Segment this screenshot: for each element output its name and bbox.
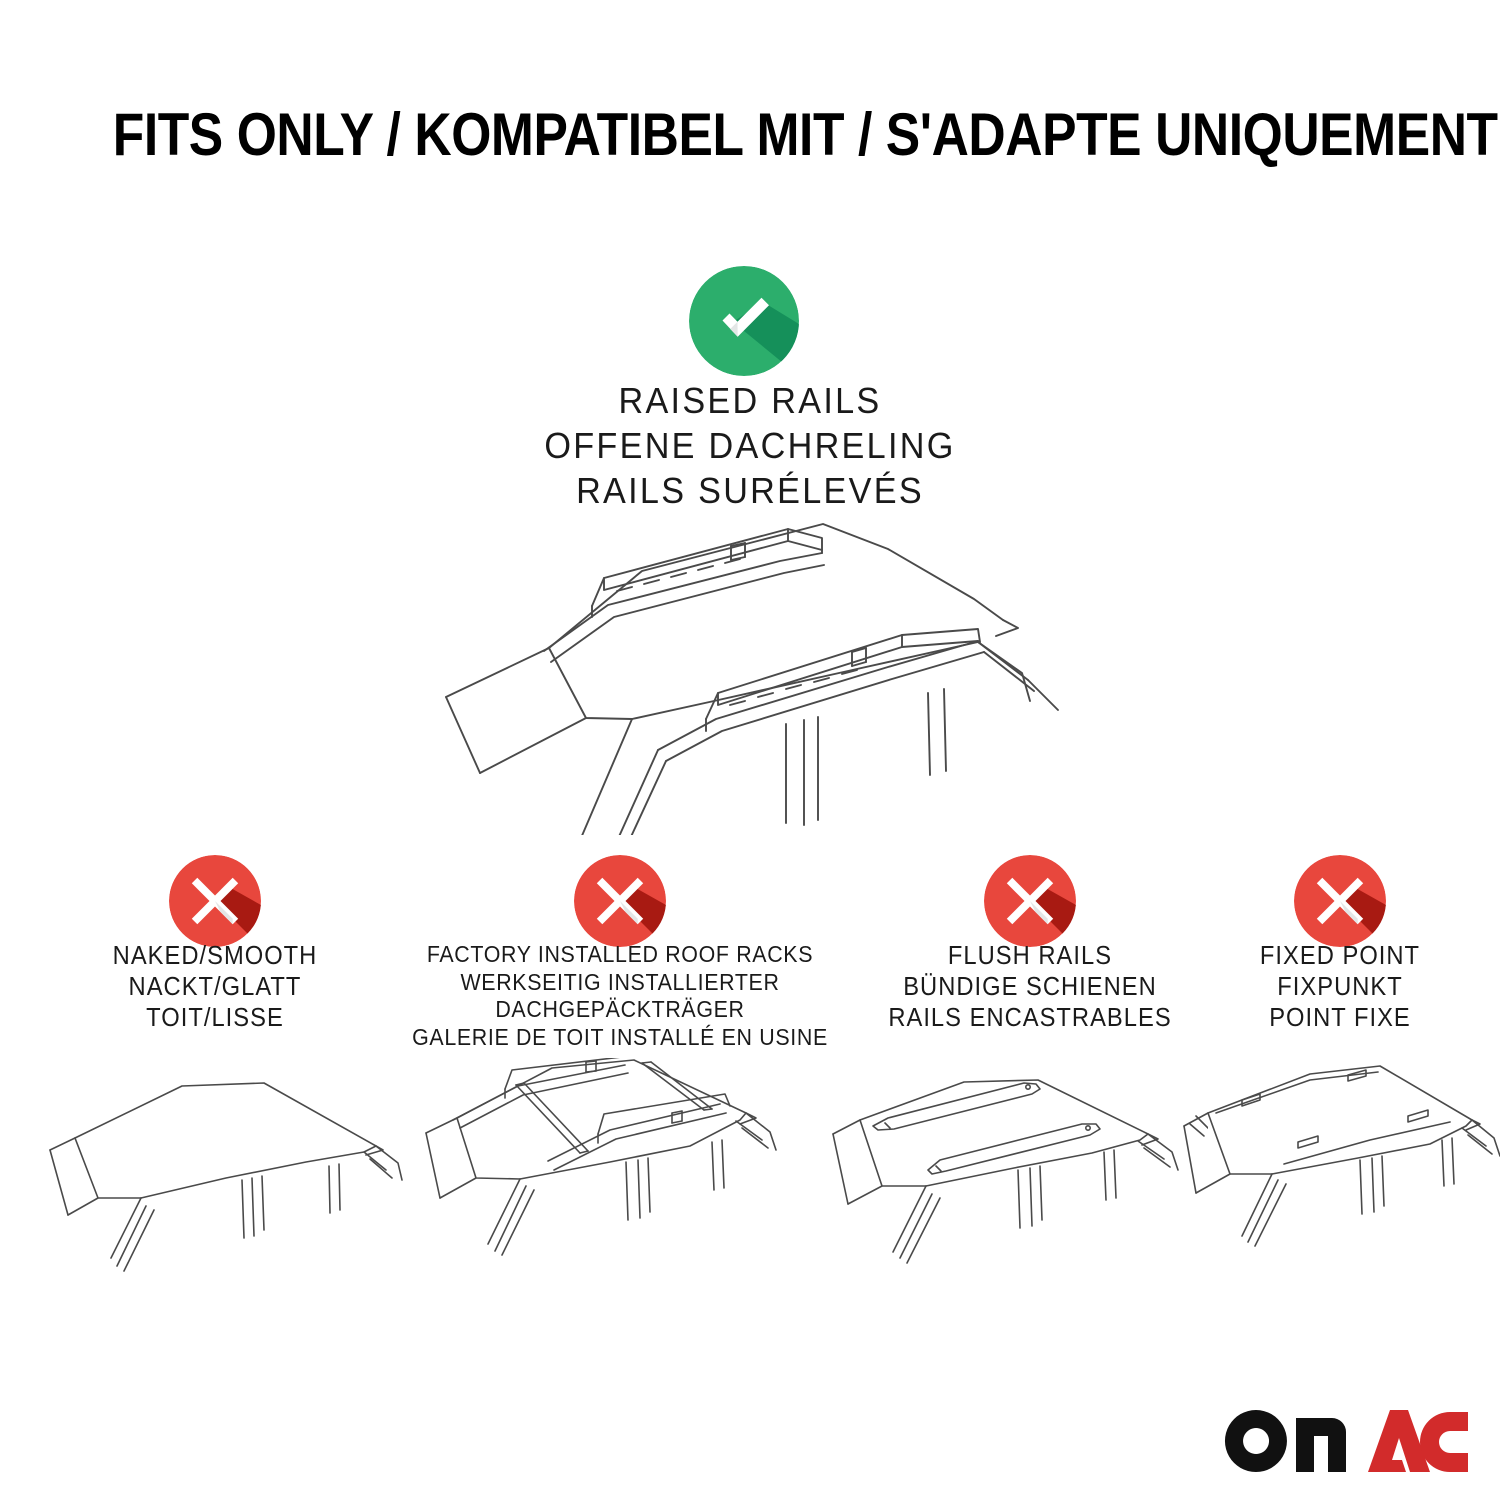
label-line-2: FIXPUNKT: [1187, 972, 1494, 1003]
logo-letter-c: [1420, 1412, 1468, 1472]
label-line-1: FIXED POINT: [1187, 941, 1494, 972]
incompatible-label-flush-rails: FLUSH RAILS BÜNDIGE SCHIENEN RAILS ENCAS…: [849, 941, 1212, 1034]
label-line-3: RAILS ENCASTRABLES: [849, 1003, 1212, 1034]
label-line-1: FACTORY INSTALLED ROOF RACKS: [411, 941, 830, 969]
incompatible-label-factory-roof-racks: FACTORY INSTALLED ROOF RACKS WERKSEITIG …: [411, 941, 830, 1051]
x-circle-icon: [1294, 855, 1386, 947]
car-roof-naked-smooth-illustration: [46, 1058, 426, 1308]
page-title-text: FITS ONLY / KOMPATIBEL MIT / S'ADAPTE UN…: [113, 104, 1498, 166]
label-line-2: BÜNDIGE SCHIENEN: [849, 972, 1212, 1003]
compatible-label-line-2: OFFENE DACHRELING: [351, 423, 1149, 468]
car-roof-fixed-point-illustration: [1180, 1058, 1500, 1308]
omac-logo: [1222, 1404, 1468, 1478]
x-circle-icon: [169, 855, 261, 947]
x-circle-icon: [984, 855, 1076, 947]
label-line-3: TOIT/LISSE: [29, 1003, 401, 1034]
x-circle-icon: [574, 855, 666, 947]
car-roof-raised-rails-illustration: [418, 505, 1090, 835]
logo-letter-m: [1296, 1418, 1346, 1472]
compatible-label-line-1: RAISED RAILS: [351, 378, 1149, 423]
compatible-label: RAISED RAILS OFFENE DACHRELING RAILS SUR…: [351, 378, 1149, 513]
label-line-3: DACHGEPÄCKTRÄGER: [411, 996, 830, 1024]
label-line-3: POINT FIXE: [1187, 1003, 1494, 1034]
car-roof-flush-rails-illustration: [828, 1058, 1208, 1308]
logo-letter-o: [1225, 1410, 1287, 1472]
label-line-4: GALERIE DE TOIT INSTALLÉ EN USINE: [411, 1024, 830, 1052]
incompatible-label-naked-smooth: NAKED/SMOOTH NACKT/GLATT TOIT/LISSE: [29, 941, 401, 1034]
label-line-1: NAKED/SMOOTH: [29, 941, 401, 972]
label-line-1: FLUSH RAILS: [849, 941, 1212, 972]
label-line-2: WERKSEITIG INSTALLIERTER: [411, 969, 830, 997]
fitment-infographic: FITS ONLY / KOMPATIBEL MIT / S'ADAPTE UN…: [0, 0, 1500, 1500]
check-circle-icon: [689, 266, 799, 376]
incompatible-label-fixed-point: FIXED POINT FIXPUNKT POINT FIXE: [1187, 941, 1494, 1034]
car-roof-factory-roof-racks-illustration: [420, 1058, 800, 1308]
page-title: FITS ONLY / KOMPATIBEL MIT / S'ADAPTE UN…: [0, 104, 1500, 166]
label-line-2: NACKT/GLATT: [29, 972, 401, 1003]
